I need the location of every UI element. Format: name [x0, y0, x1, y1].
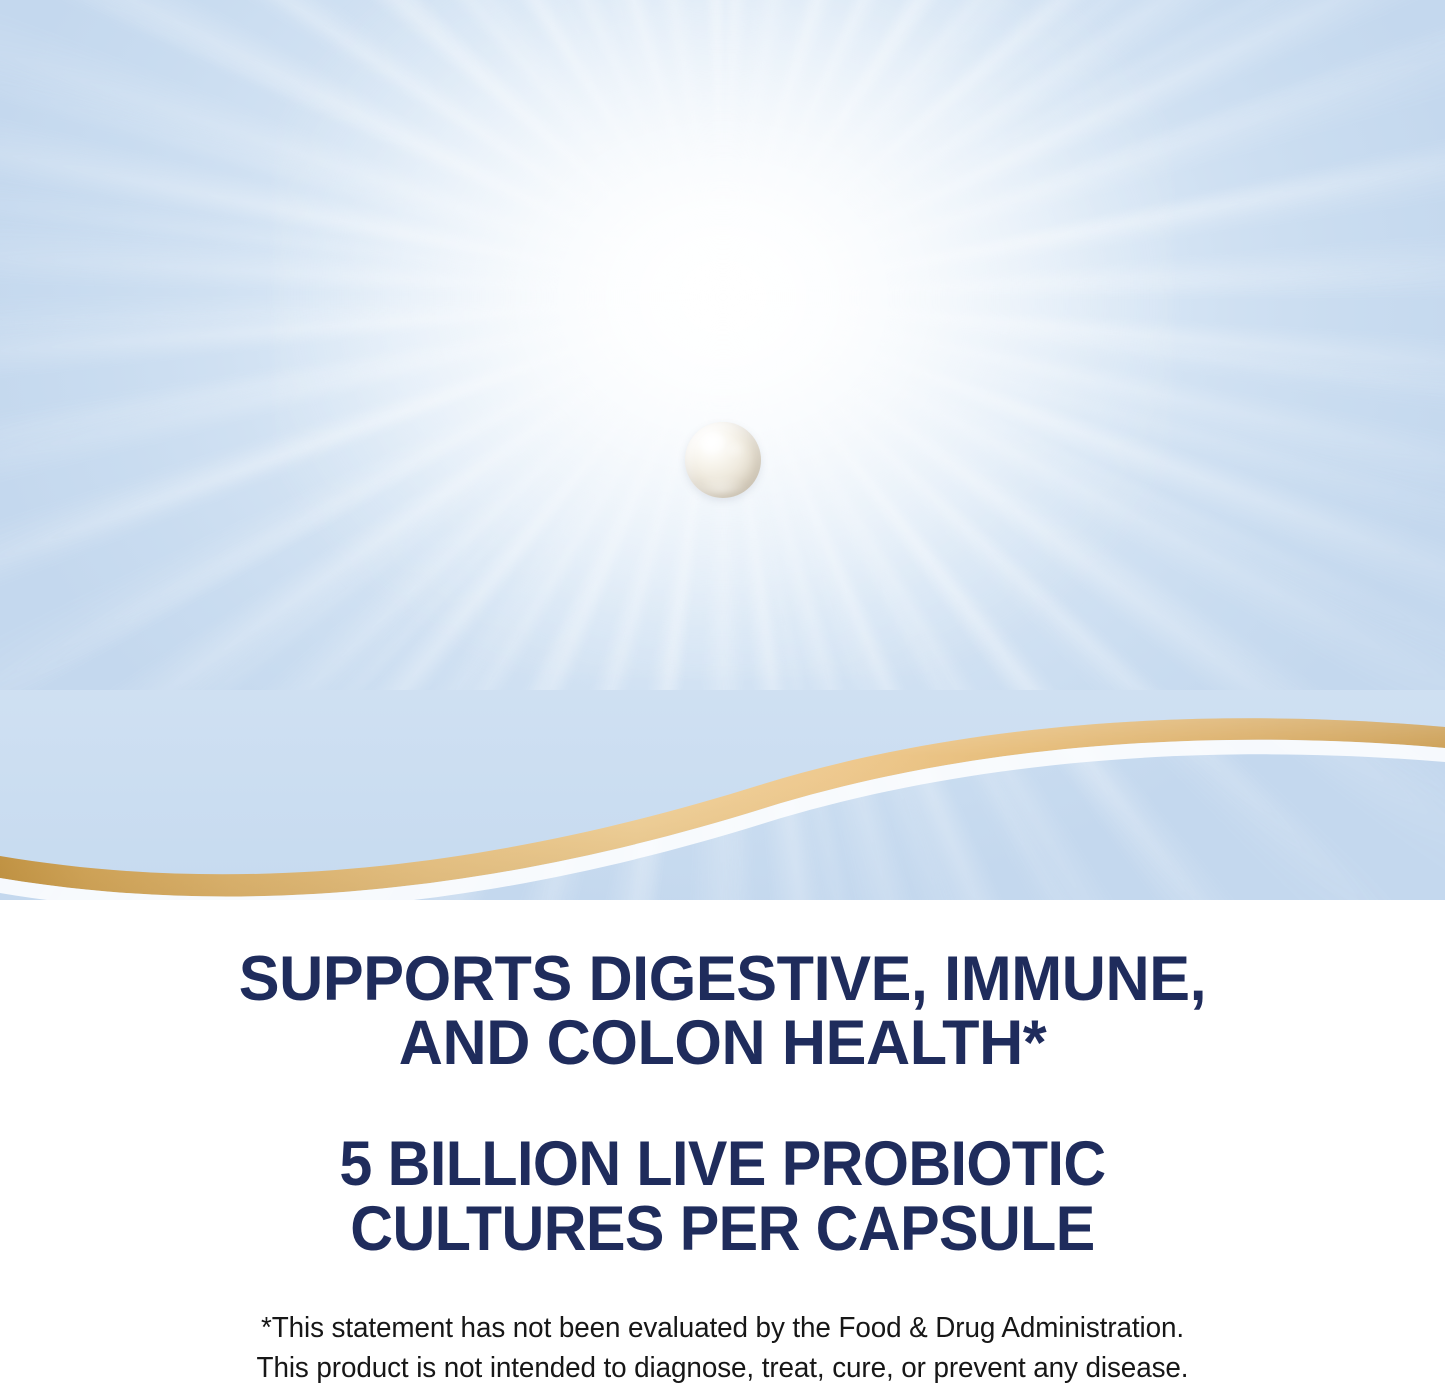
headline-line-1: SUPPORTS DIGESTIVE, IMMUNE, [239, 944, 1206, 1014]
pearl-highlight-primary [700, 433, 726, 454]
headline-line-2: AND COLON HEALTH* [22, 1011, 1424, 1075]
product-marketing-panel: SUPPORTS DIGESTIVE, IMMUNE, AND COLON HE… [0, 0, 1445, 1398]
pearl-highlight-secondary [725, 442, 745, 457]
disclaimer-line-1: *This statement has not been evaluated b… [261, 1312, 1184, 1344]
claim-line-2: CULTURES PER CAPSULE [43, 1197, 1401, 1262]
disclaimer-line-2: This product is not intended to diagnose… [29, 1348, 1416, 1388]
claim-potency: 5 BILLION LIVE PROBIOTIC CULTURES PER CA… [43, 1132, 1401, 1262]
sky-fill-above-wave [0, 690, 1445, 877]
gold-wave-divider [0, 690, 1445, 910]
pearl-icon [685, 422, 761, 498]
claim-line-1: 5 BILLION LIVE PROBIOTIC [339, 1129, 1105, 1199]
center-glow [273, 0, 1173, 677]
fda-disclaimer: *This statement has not been evaluated b… [29, 1308, 1416, 1388]
marketing-copy-block: SUPPORTS DIGESTIVE, IMMUNE, AND COLON HE… [0, 900, 1445, 1398]
headline-benefits: SUPPORTS DIGESTIVE, IMMUNE, AND COLON HE… [22, 947, 1424, 1076]
